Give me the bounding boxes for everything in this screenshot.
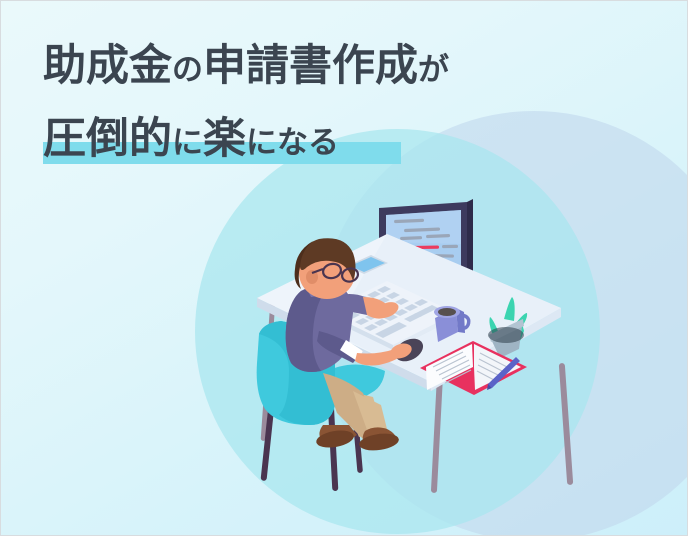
headline-seg-2a: 圧倒的 <box>43 115 172 163</box>
headline-line-2: 圧倒的に楽になる <box>43 118 643 161</box>
headline-seg-1d: が <box>418 52 449 87</box>
headline-seg-2c: 楽 <box>203 115 246 163</box>
headline-seg-2d: になる <box>246 125 339 160</box>
headline-seg-1a: 助成金 <box>43 42 172 90</box>
headline-seg-1b: の <box>172 52 203 87</box>
headline-seg-1c: 申請書作成 <box>203 42 418 90</box>
headline-line-1: 助成金の申請書作成が <box>43 45 643 88</box>
headline: 助成金の申請書作成が 圧倒的に楽になる <box>43 45 643 161</box>
promo-banner: 助成金の申請書作成が 圧倒的に楽になる <box>0 0 688 536</box>
headline-seg-2b: に <box>172 125 203 160</box>
